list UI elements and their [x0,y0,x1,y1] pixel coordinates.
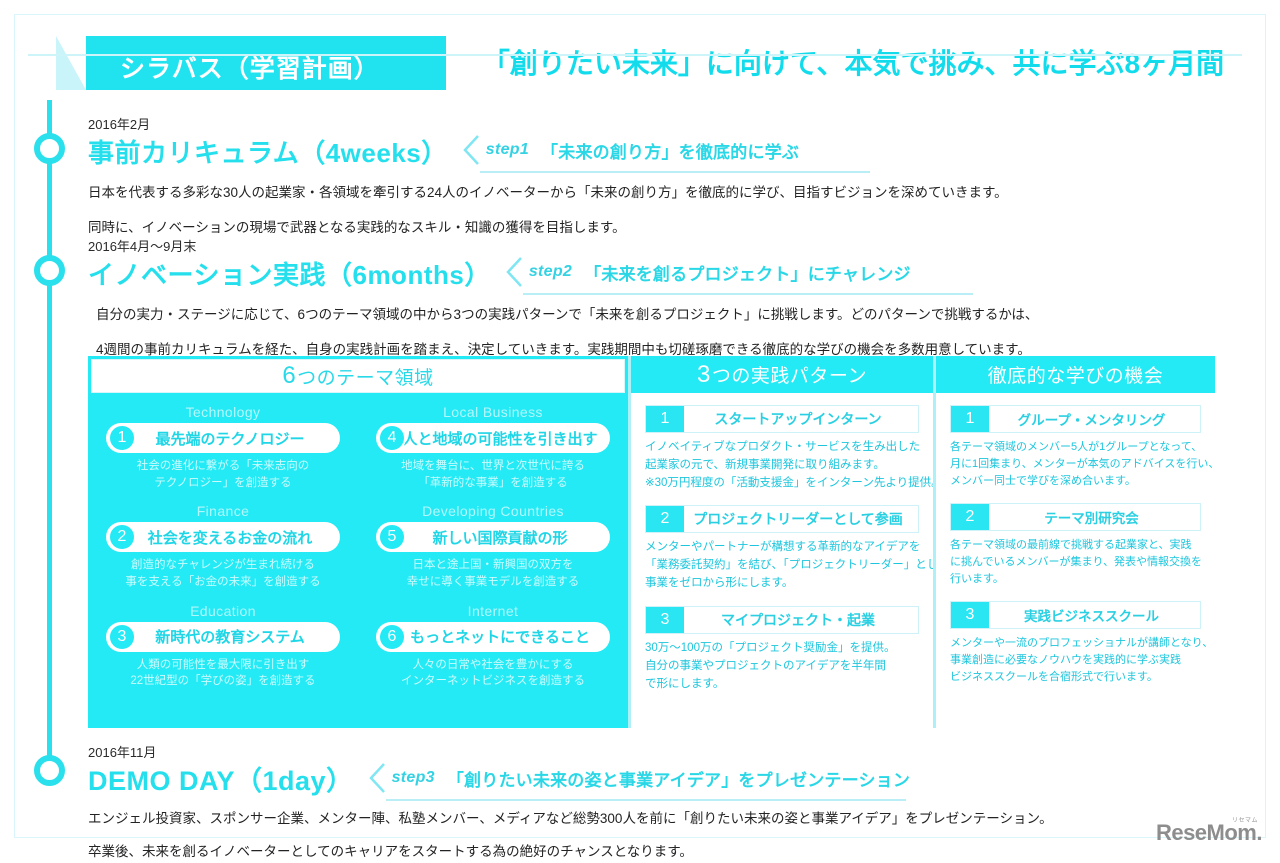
chevron-left-icon [505,256,523,288]
chance-desc-line3: メンバー同士で学びを深め合います。 [950,473,1201,490]
pattern-desc-line2: 起業家の元で、新規事業開発に取り組みます。 [645,457,919,475]
theme-pill[interactable]: 5 新しい国際貢献の形 [376,522,610,552]
pattern-title: スタートアップインターン [684,406,918,432]
pattern-number-badge: 1 [646,406,684,432]
panel-patterns-header: 3 つの実践パターン [631,356,933,393]
theme-jp-label: 新時代の教育システム [106,626,340,647]
chance-card[interactable]: 3 実践ビジネススクール メンターや一流のプロフェッショナルが講師となり、 事業… [950,601,1201,686]
pattern-title: マイプロジェクト・起業 [684,607,918,633]
chevron-left-icon [462,134,480,166]
theme-number-badge: 4 [378,424,406,452]
section-title: イノベーション実践（6months） [88,261,491,291]
panel-patterns: 3 つの実践パターン 1 スタートアップインターン イノベイティブなプロダクト・… [628,356,933,728]
header-underline [28,54,1242,56]
step-label: step2 [529,263,572,281]
pattern-desc-line2: 「業務委託契約」を結び、「プロジェクトリーダー」として [645,557,919,575]
timeline-node-3 [34,755,65,786]
theme-card[interactable]: Technology 1 最先端のテクノロジー 社会の進化に繋がる「未来志向の … [88,396,358,495]
section-date: 2016年2月 [88,114,1008,133]
pattern-number-badge: 2 [646,506,684,532]
pattern-desc-line1: イノベイティブなプロダクト・サービスを生み出した [645,439,919,457]
theme-en-label: Education [96,603,350,619]
theme-jp-label: 新しい国際貢献の形 [376,527,610,548]
theme-card[interactable]: Education 3 新時代の教育システム 人類の可能性を最大限に引き出す 2… [88,595,358,694]
theme-number-badge: 6 [378,623,406,651]
theme-number-badge: 3 [108,623,136,651]
page-title: 「創りたい未来」に向けて、本気で挑み、共に学ぶ8ヶ月間 [458,42,1248,82]
theme-desc-line1: 創造的なチャレンジが生まれ続ける [96,557,350,574]
panel-patterns-header-number: 3 [697,361,711,389]
chance-desc-line2: 事業創造に必要なノウハウを実践的に学ぶ実践 [950,652,1201,669]
theme-jp-label: 人と地域の可能性を引き出す [376,428,610,449]
timeline-spine [47,100,52,790]
theme-desc-line2: 事を支える「お金の未来」を創造する [96,574,350,591]
pattern-desc-line3: ※30万円程度の「活動支援金」をインターン先より提供。 [645,475,919,493]
step-underline [386,799,906,801]
theme-jp-label: 最先端のテクノロジー [106,428,340,449]
chance-desc-line1: メンターや一流のプロフェッショナルが講師となり、 [950,635,1201,652]
themes-grid: Technology 1 最先端のテクノロジー 社会の進化に繋がる「未来志向の … [88,396,628,694]
theme-pill[interactable]: 4 人と地域の可能性を引き出す [376,423,610,453]
chances-card-list: 1 グループ・メンタリング 各テーマ領域のメンバー5人が1グループとなって、 月… [936,393,1215,686]
watermark-main: ReseMom. [1156,822,1262,844]
pattern-desc-line2: 自分の事業やプロジェクトのアイデアを半年間 [645,658,919,676]
theme-card[interactable]: Developing Countries 5 新しい国際貢献の形 日本と途上国・… [358,495,628,594]
theme-desc-line1: 社会の進化に繋がる「未来志向の [96,458,350,475]
section-step1: 2016年2月 事前カリキュラム（4weeks） step1 「未来の創り方」を… [88,114,1008,239]
chance-number-badge: 2 [951,504,989,530]
chance-desc-line1: 各テーマ領域のメンバー5人が1グループとなって、 [950,439,1201,456]
pattern-desc-line1: メンターやパートナーが構想する革新的なアイデアを [645,539,919,557]
section-step3: 2016年11月 DEMO DAY（1day） step3 「創りたい未来の姿と… [88,742,1053,863]
step-label: step1 [486,141,529,159]
infographic-page: シラバス（学習計画） 「創りたい未来」に向けて、本気で挑み、共に学ぶ8ヶ月間 2… [0,0,1280,852]
section-body-line1: 日本を代表する多彩な30人の起業家・各領域を牽引する24人のイノベーターから「未… [88,182,1008,204]
step-text: 「未来の創り方」を徹底的に学ぶ [541,138,799,163]
chance-card[interactable]: 2 テーマ別研究会 各テーマ領域の最前線で挑戦する起業家と、実践 に挑んでいるメ… [950,503,1201,588]
theme-card[interactable]: Local Business 4 人と地域の可能性を引き出す 地域を舞台に、世界… [358,396,628,495]
theme-card[interactable]: Finance 2 社会を変えるお金の流れ 創造的なチャレンジが生まれ続ける 事… [88,495,358,594]
panels-container: 6 つのテーマ領域 Technology 1 最先端のテクノロジー 社会の進化に… [88,356,1218,728]
pattern-card[interactable]: 2 プロジェクトリーダーとして参画 メンターやパートナーが構想する革新的なアイデ… [645,505,919,592]
chance-desc-line3: 行います。 [950,571,1201,588]
chance-title: テーマ別研究会 [989,504,1200,530]
theme-desc-line2: 幸せに導く事業モデルを創造する [366,574,620,591]
step-underline [523,293,973,295]
step-callout: step3 「創りたい未来の姿と事業アイデア」をプレゼンテーション [368,762,911,797]
chance-desc-line1: 各テーマ領域の最前線で挑戦する起業家と、実践 [950,537,1201,554]
pattern-card-header[interactable]: 1 スタートアップインターン [645,405,919,433]
theme-en-label: Developing Countries [366,503,620,519]
pattern-card-header[interactable]: 2 プロジェクトリーダーとして参画 [645,505,919,533]
step-underline [480,171,870,173]
section-body-line1: 自分の実力・ステージに応じて、6つのテーマ領域の中から3つの実践パターンで「未来… [96,304,1038,326]
timeline-node-1 [34,133,65,164]
theme-jp-label: 社会を変えるお金の流れ [106,527,340,548]
chance-number-badge: 3 [951,602,989,628]
pattern-card-header[interactable]: 3 マイプロジェクト・起業 [645,606,919,634]
chance-desc-line2: に挑んでいるメンバーが集まり、発表や情報交換を [950,554,1201,571]
pattern-number-badge: 3 [646,607,684,633]
panel-themes-header: 6 つのテーマ領域 [91,359,625,393]
chevron-left-icon [368,762,386,794]
chance-card[interactable]: 1 グループ・メンタリング 各テーマ領域のメンバー5人が1グループとなって、 月… [950,405,1201,490]
theme-pill[interactable]: 3 新時代の教育システム [106,622,340,652]
chance-card-header[interactable]: 1 グループ・メンタリング [950,405,1201,433]
step-callout: step1 「未来の創り方」を徹底的に学ぶ [462,134,799,169]
step-callout: step2 「未来を創るプロジェクト」にチャレンジ [505,256,911,291]
section-date: 2016年11月 [88,742,1053,761]
section-date: 2016年4月〜9月末 [88,236,1038,255]
theme-en-label: Internet [366,603,620,619]
theme-desc-line2: 22世紀型の「学びの姿」を創造する [96,673,350,690]
chance-number-badge: 1 [951,406,989,432]
pattern-desc-line3: で形にします。 [645,676,919,694]
theme-desc-line2: テクノロジー」を創造する [96,475,350,492]
panel-chances-header: 徹底的な学びの機会 [936,356,1215,393]
patterns-card-list: 1 スタートアップインターン イノベイティブなプロダクト・サービスを生み出した … [631,393,933,693]
section-body-line1: エンジェル投資家、スポンサー企業、メンター陣、私塾メンバー、メディアなど総勢30… [88,808,1053,830]
theme-en-label: Technology [96,404,350,420]
pattern-card[interactable]: 1 スタートアップインターン イノベイティブなプロダクト・サービスを生み出した … [645,405,919,492]
header-corner-triangle [56,36,86,90]
theme-en-label: Local Business [366,404,620,420]
theme-desc-line1: 地域を舞台に、世界と次世代に誇る [366,458,620,475]
chance-desc-line3: ビジネススクールを合宿形式で行います。 [950,669,1201,686]
theme-pill[interactable]: 2 社会を変えるお金の流れ [106,522,340,552]
watermark-logo: リセマム ReseMom. [1156,815,1262,844]
theme-pill[interactable]: 6 もっとネットにできること [376,622,610,652]
chance-title: 実践ビジネススクール [989,602,1200,628]
pattern-desc-line3: 事業をゼロから形にします。 [645,575,919,593]
theme-number-badge: 1 [108,424,136,452]
theme-card[interactable]: Internet 6 もっとネットにできること 人々の日常や社会を豊かにする イ… [358,595,628,694]
chance-desc-line2: 月に1回集まり、メンターが本気のアドバイスを行い、 [950,456,1201,473]
header-tab: シラバス（学習計画） [56,36,446,90]
theme-desc-line2: インターネットビジネスを創造する [366,673,620,690]
theme-en-label: Finance [96,503,350,519]
theme-pill[interactable]: 1 最先端のテクノロジー [106,423,340,453]
pattern-card[interactable]: 3 マイプロジェクト・起業 30万〜100万の「プロジェクト奨励金」を提供。 自… [645,606,919,693]
step-text: 「未来を創るプロジェクト」にチャレンジ [584,260,911,285]
chance-title: グループ・メンタリング [989,406,1200,432]
step-label: step3 [392,769,435,787]
panel-themes-header-text: つのテーマ領域 [297,363,434,390]
theme-desc-line1: 日本と途上国・新興国の双方を [366,557,620,574]
panel-patterns-header-text: つの実践パターン [712,361,867,388]
theme-desc-line1: 人類の可能性を最大限に引き出す [96,657,350,674]
section-step2: 2016年4月〜9月末 イノベーション実践（6months） step2 「未来… [88,236,1038,361]
section-title: 事前カリキュラム（4weeks） [88,139,448,169]
chance-card-header[interactable]: 2 テーマ別研究会 [950,503,1201,531]
section-title: DEMO DAY（1day） [88,766,354,797]
panel-chances: 徹底的な学びの機会 1 グループ・メンタリング 各テーマ領域のメンバー5人が1グ… [933,356,1215,728]
header: シラバス（学習計画） 「創りたい未来」に向けて、本気で挑み、共に学ぶ8ヶ月間 [28,36,1242,90]
chance-card-header[interactable]: 3 実践ビジネススクール [950,601,1201,629]
panel-themes-header-number: 6 [282,362,296,390]
timeline-node-2 [34,255,65,286]
pattern-desc-line1: 30万〜100万の「プロジェクト奨励金」を提供。 [645,640,919,658]
step-text: 「創りたい未来の姿と事業アイデア」をプレゼンテーション [447,766,910,791]
theme-jp-label: もっとネットにできること [376,626,610,647]
theme-desc-line1: 人々の日常や社会を豊かにする [366,657,620,674]
pattern-title: プロジェクトリーダーとして参画 [684,506,918,532]
panel-themes: 6 つのテーマ領域 Technology 1 最先端のテクノロジー 社会の進化に… [88,356,628,728]
theme-desc-line2: 「革新的な事業」を創造する [366,475,620,492]
